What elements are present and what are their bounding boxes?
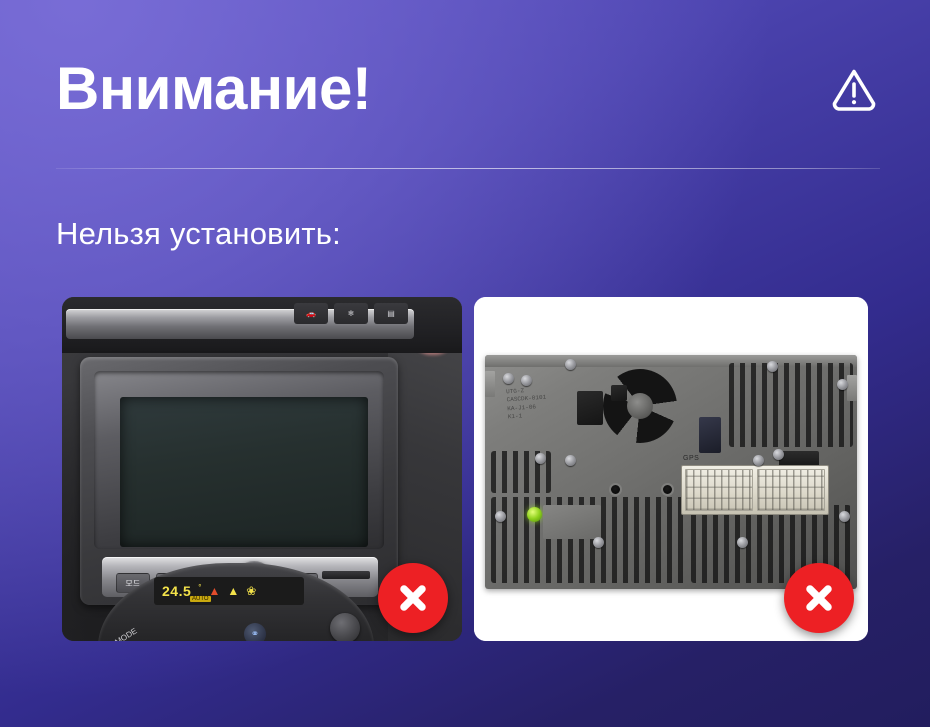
chassis-screw (565, 359, 576, 370)
climate-degree-symbol: ° (198, 583, 201, 592)
forbidden-example-card-dashboard: 🚗 ❄ ▤ 모드 예약 현위치 목적지 (62, 297, 462, 641)
red-x-icon (784, 563, 854, 633)
subtitle: Нельзя установить: (56, 216, 341, 252)
gps-label: GPS (683, 455, 699, 462)
chassis-screw (839, 511, 850, 522)
head-unit-disc-slot (322, 571, 370, 579)
heatsink-ribs-top-right (729, 363, 853, 447)
bluetooth-icon: ⚭ (244, 623, 266, 641)
chassis-screw (737, 537, 748, 548)
radio-chassis: UTG-Z CASCDK-0101 KA-J1-06 K1-1 GPS (485, 355, 857, 589)
dash-top-button-defrost: 🚗 (294, 303, 328, 324)
warning-triangle-icon (828, 63, 880, 115)
antenna-connector (577, 391, 603, 425)
slide-header: Внимание! (56, 50, 880, 128)
forbidden-examples-row: 🚗 ❄ ▤ 모드 예약 현위치 목적지 (62, 297, 868, 641)
square-connector (611, 385, 627, 401)
climate-knob-right (330, 613, 360, 641)
seat-heater-icon: ▲ (227, 585, 239, 597)
climate-auto-badge: AUTO (190, 596, 211, 602)
chassis-screw (593, 537, 604, 548)
page-title: Внимание! (56, 59, 371, 119)
chassis-screw (773, 449, 784, 460)
chassis-screw (565, 455, 576, 466)
iso-connector-half-left (685, 469, 753, 511)
chassis-screw (521, 375, 532, 386)
dash-top-button-rear: ▤ (374, 303, 408, 324)
dash-top-strip: 🚗 ❄ ▤ (62, 297, 462, 353)
iso-connector-half-right (757, 469, 825, 511)
forbidden-example-card-rear-panel: UTG-Z CASCDK-0101 KA-J1-06 K1-1 GPS (474, 297, 868, 641)
chassis-screw (495, 511, 506, 522)
chassis-side-tab-left (485, 371, 495, 397)
climate-lcd-display: 24.5 ° ▲ ▲ ❀ AUTO (154, 577, 304, 605)
mounting-hole (661, 483, 674, 496)
fan-icon: ❀ (246, 585, 256, 597)
green-led (527, 507, 542, 522)
gps-connector (699, 417, 721, 453)
iso-connector-block (681, 465, 829, 515)
fan-hub (627, 393, 653, 419)
chassis-screw (753, 455, 764, 466)
chassis-molding-text: UTG-Z CASCDK-0101 KA-J1-06 K1-1 (506, 386, 548, 422)
mounting-hole (609, 483, 622, 496)
chassis-side-tab-right (847, 375, 857, 401)
climate-temperature-value: 24.5 (162, 583, 191, 599)
navigation-screen (120, 397, 368, 547)
header-divider (56, 168, 880, 169)
chassis-screw (837, 379, 848, 390)
chassis-plate (543, 505, 601, 539)
chassis-screw (535, 453, 546, 464)
dash-top-button-fan: ❄ (334, 303, 368, 324)
warning-slide: Внимание! Нельзя установить: 🚗 ❄ ▤ (0, 0, 930, 727)
red-x-icon (378, 563, 448, 633)
climate-mode-label: MODE (113, 626, 138, 641)
chassis-screw (767, 361, 778, 372)
chassis-screw (503, 373, 514, 384)
head-unit-bezel-inner (94, 371, 384, 549)
